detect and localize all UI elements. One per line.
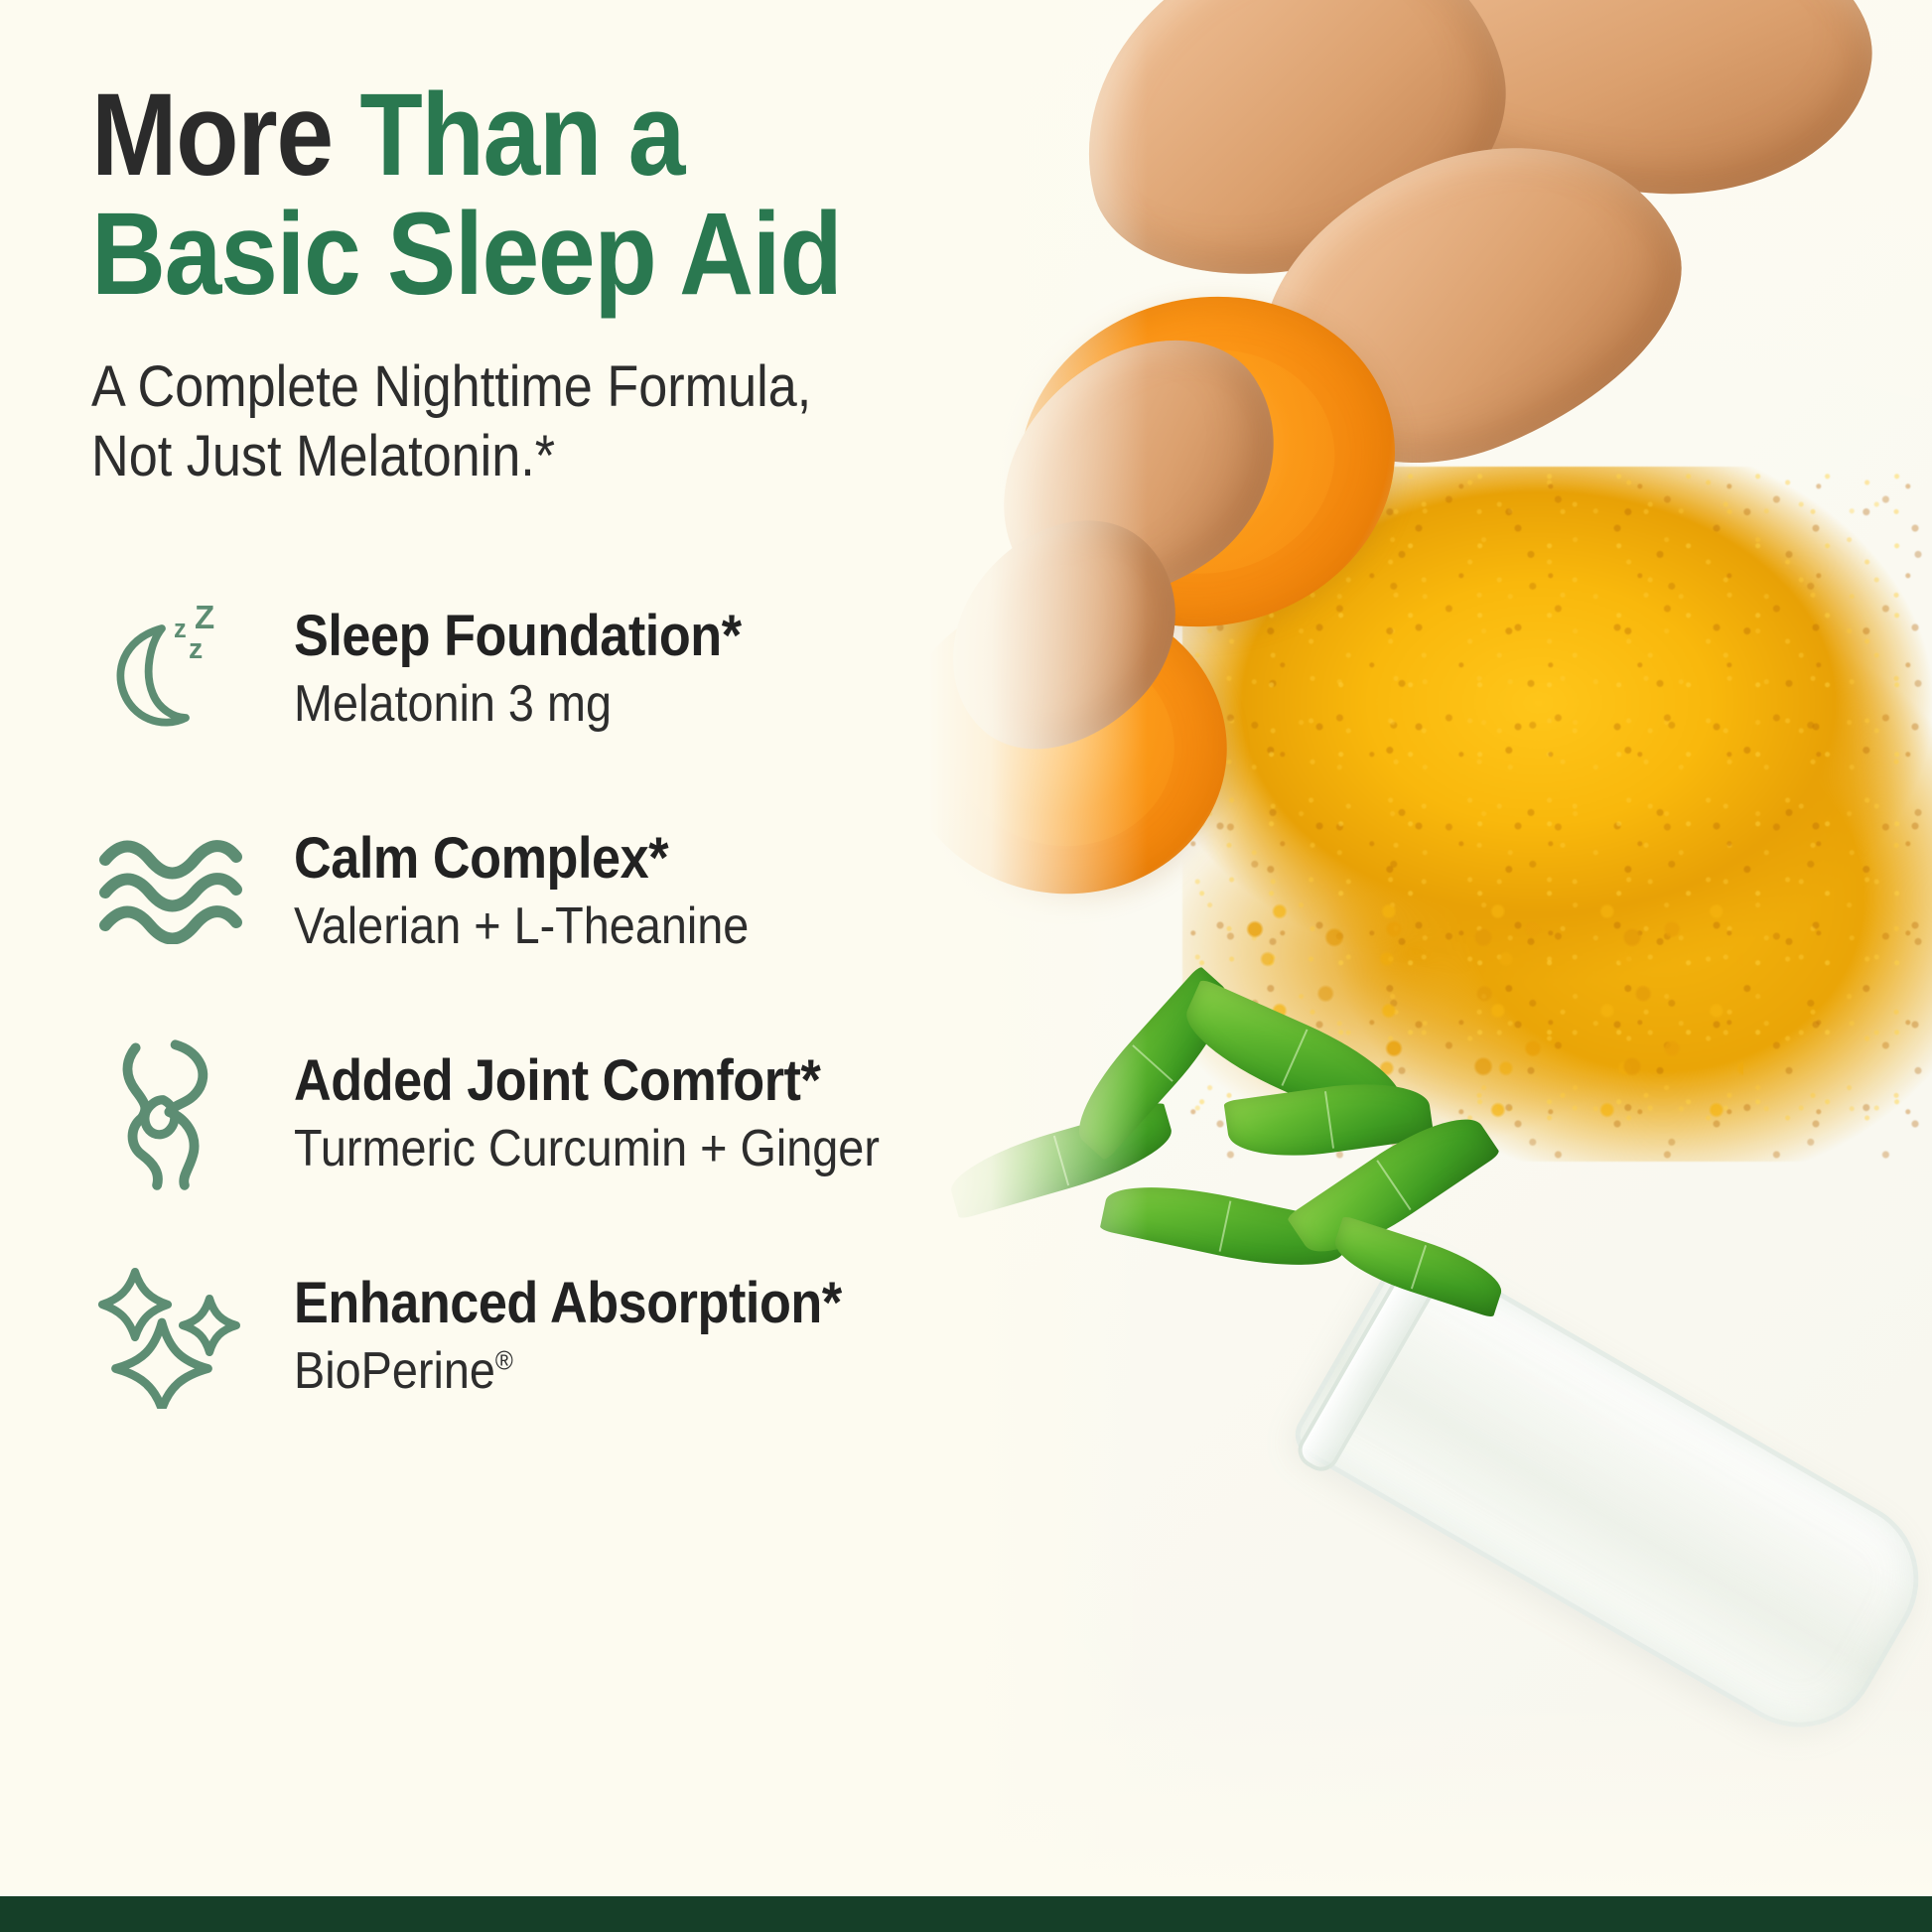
feature-list: z Z z Sleep Foundation* Melatonin 3 mg (91, 588, 1241, 1414)
headline-part-dark: More (91, 69, 333, 201)
feature-text: Enhanced Absorption* BioPerine® (294, 1269, 902, 1401)
joint-icon (91, 1033, 250, 1191)
sparkles-icon (91, 1255, 250, 1414)
waves-icon (91, 810, 250, 969)
feature-title: Sleep Foundation* (294, 606, 742, 666)
feature-item-sleep-foundation: z Z z Sleep Foundation* Melatonin 3 mg (91, 588, 1241, 747)
photo-bottom-fade (929, 1698, 1932, 1896)
feature-text: Calm Complex* Valerian + L-Theanine (294, 824, 799, 956)
feature-subtitle: Valerian + L-Theanine (294, 898, 749, 955)
page-title: More Than a Basic Sleep Aid (91, 75, 1103, 315)
feature-text: Added Joint Comfort* Turmeric Curcumin +… (294, 1046, 944, 1178)
feature-item-joint-comfort: Added Joint Comfort* Turmeric Curcumin +… (91, 1033, 1241, 1191)
feature-title: Calm Complex* (294, 828, 749, 889)
feature-subtitle: Melatonin 3 mg (294, 676, 742, 733)
subtitle: A Complete Nighttime Formula, Not Just M… (91, 352, 1126, 493)
infographic-canvas: More Than a Basic Sleep Aid A Complete N… (0, 0, 1932, 1932)
feature-subtitle: BioPerine® (294, 1343, 842, 1400)
feature-item-calm-complex: Calm Complex* Valerian + L-Theanine (91, 810, 1241, 969)
moon-zzz-icon: z Z z (91, 588, 250, 747)
feature-text: Sleep Foundation* Melatonin 3 mg (294, 602, 791, 734)
footer-bar (0, 1896, 1932, 1932)
headline-part-green: Than a (333, 69, 684, 201)
feature-title: Added Joint Comfort* (294, 1050, 880, 1111)
headline-line-two: Basic Sleep Aid (91, 195, 1103, 314)
feature-item-enhanced-absorption: Enhanced Absorption* BioPerine® (91, 1255, 1241, 1414)
subtitle-line-1: A Complete Nighttime Formula, (91, 352, 1126, 423)
svg-text:Z: Z (195, 599, 214, 635)
registered-mark: ® (495, 1346, 513, 1376)
svg-text:z: z (174, 616, 187, 643)
content-column: More Than a Basic Sleep Aid A Complete N… (0, 0, 1241, 1414)
svg-text:z: z (189, 633, 203, 665)
feature-title: Enhanced Absorption* (294, 1273, 842, 1333)
subtitle-line-2: Not Just Melatonin.* (91, 422, 1126, 492)
feature-subtitle-text: BioPerine (294, 1342, 495, 1400)
feature-subtitle: Turmeric Curcumin + Ginger (294, 1121, 880, 1177)
